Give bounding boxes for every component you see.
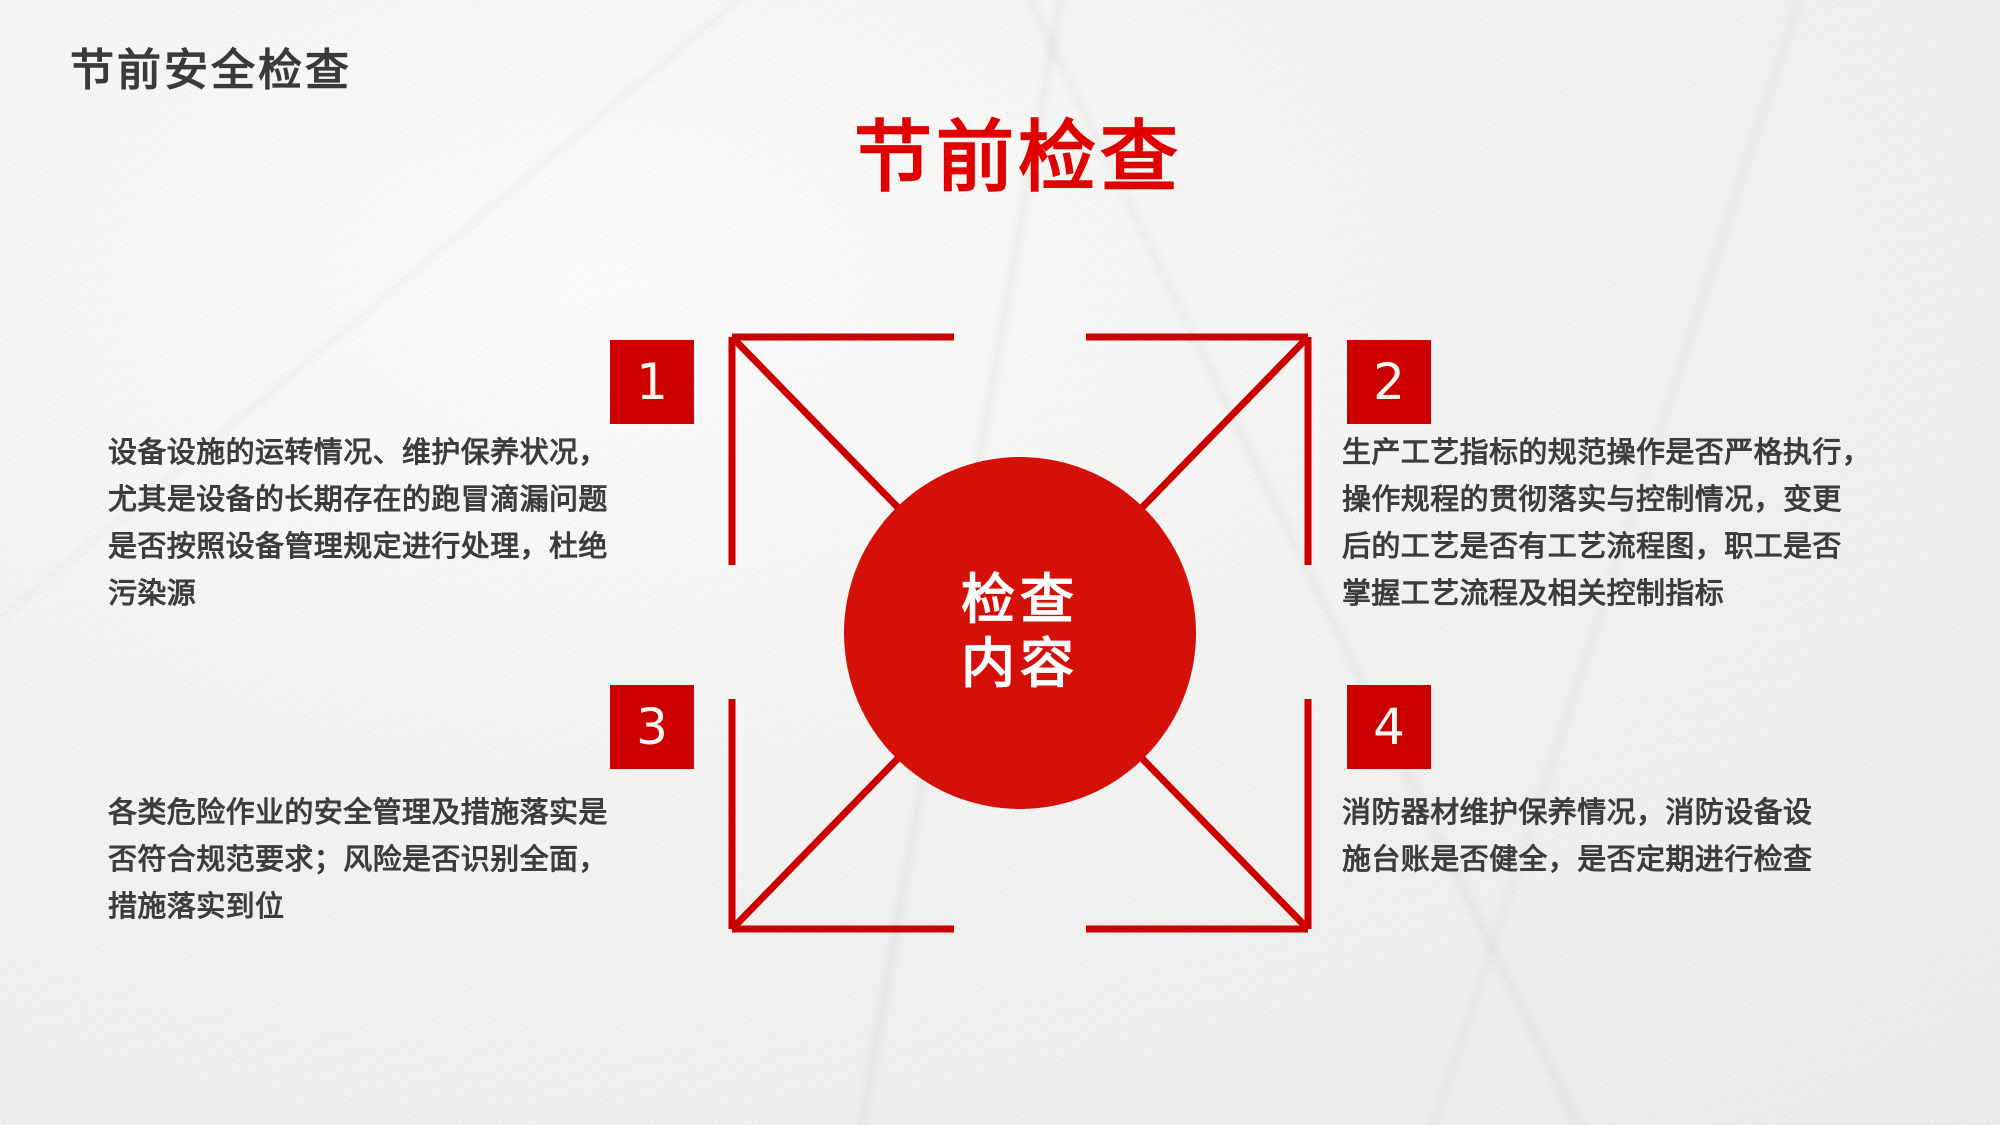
item-3-line-1: 各类危险作业的安全管理及措施落实是 (108, 790, 688, 837)
item-badge-2: 2 (1347, 340, 1431, 424)
item-4-line-1: 消防器材维护保养情况，消防设备设 (1342, 790, 1922, 837)
item-1-line-2: 尤其是设备的长期存在的跑冒滴漏问题 (108, 477, 688, 524)
item-text-4: 消防器材维护保养情况，消防设备设 施台账是否健全，是否定期进行检查 (1342, 790, 1922, 884)
center-circle: 检查 内容 (844, 457, 1196, 809)
item-badge-1: 1 (610, 340, 694, 424)
item-3-line-3: 措施落实到位 (108, 884, 688, 931)
slide-canvas: 节前安全检查 节前检查 检查 (0, 0, 2000, 1125)
item-2-line-4: 掌握工艺流程及相关控制指标 (1342, 571, 1922, 618)
page-title: 节前检查 (18, 95, 2000, 207)
slide-heading: 节前安全检查 (70, 34, 352, 98)
item-2-line-1: 生产工艺指标的规范操作是否严格执行， (1342, 430, 1922, 477)
item-1-line-1: 设备设施的运转情况、维护保养状况， (108, 430, 688, 477)
item-text-1: 设备设施的运转情况、维护保养状况， 尤其是设备的长期存在的跑冒滴漏问题 是否按照… (108, 430, 688, 618)
item-2-line-2: 操作规程的贯彻落实与控制情况，变更 (1342, 477, 1922, 524)
center-circle-line-2: 内容 (961, 633, 1079, 697)
item-text-3: 各类危险作业的安全管理及措施落实是 否符合规范要求；风险是否识别全面， 措施落实… (108, 790, 688, 931)
item-4-line-2: 施台账是否健全，是否定期进行检查 (1342, 837, 1922, 884)
check-content-diagram: 检查 内容 (728, 333, 1312, 933)
item-1-line-3: 是否按照设备管理规定进行处理，杜绝 (108, 524, 688, 571)
item-2-line-3: 后的工艺是否有工艺流程图，职工是否 (1342, 524, 1922, 571)
item-3-line-2: 否符合规范要求；风险是否识别全面， (108, 837, 688, 884)
item-badge-3: 3 (610, 685, 694, 769)
center-circle-line-1: 检查 (961, 569, 1079, 633)
item-badge-4: 4 (1347, 685, 1431, 769)
item-text-2: 生产工艺指标的规范操作是否严格执行， 操作规程的贯彻落实与控制情况，变更 后的工… (1342, 430, 1922, 618)
item-1-line-4: 污染源 (108, 571, 688, 618)
